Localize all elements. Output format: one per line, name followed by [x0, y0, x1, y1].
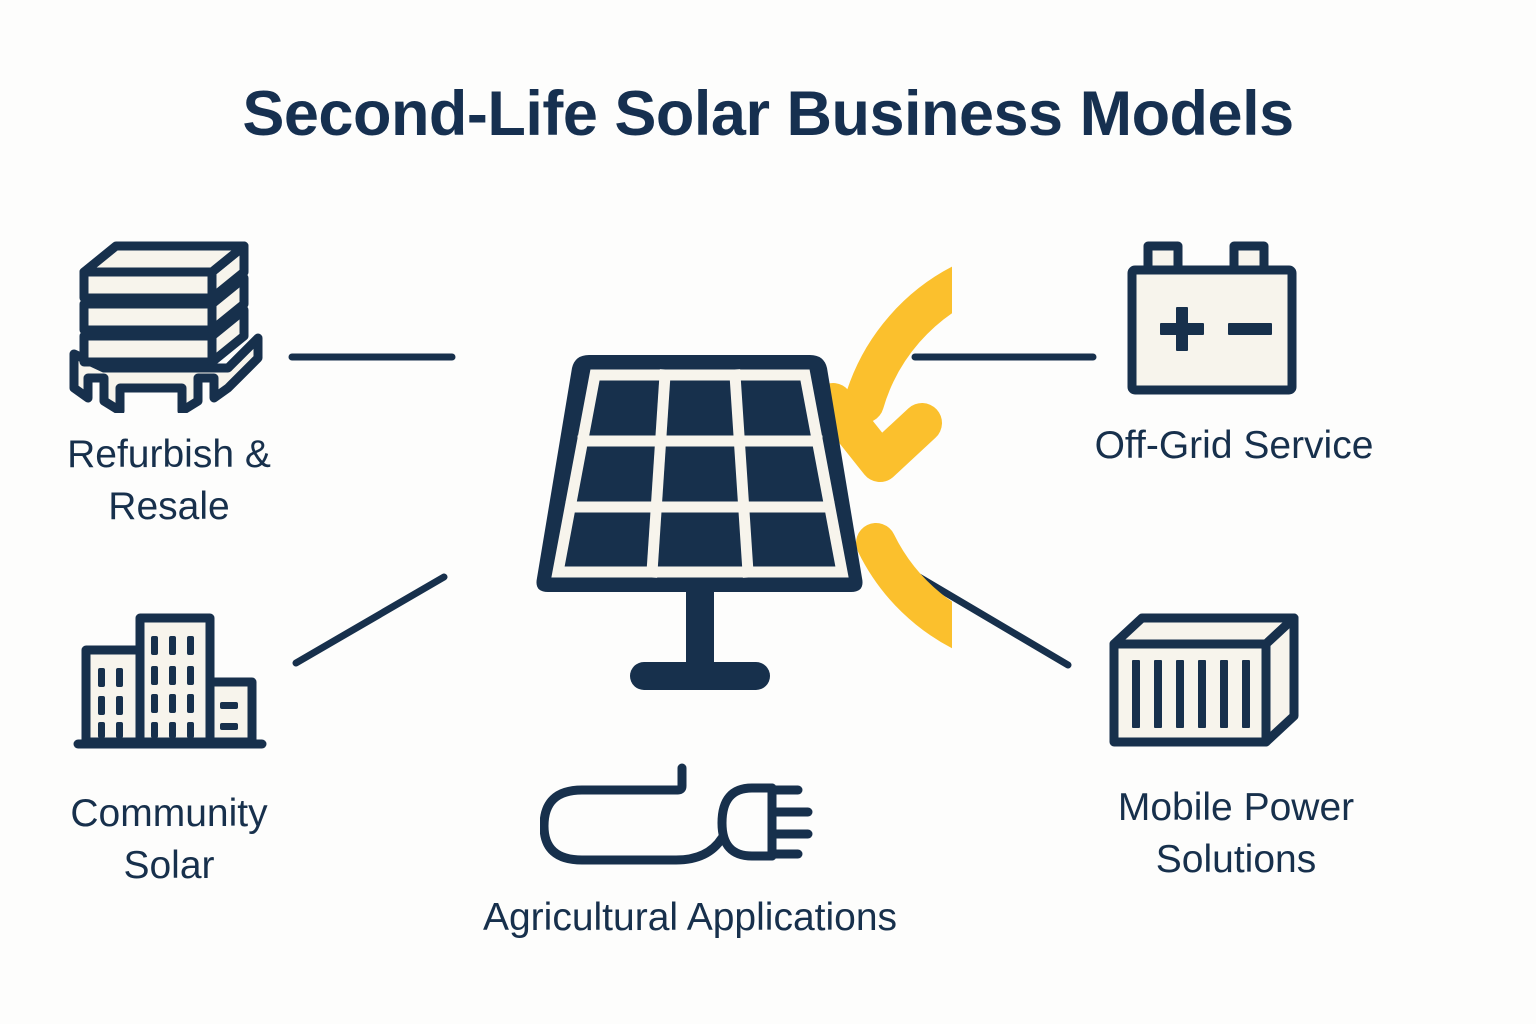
node-agricultural-applications[interactable]: Agricultural Applications [440, 760, 940, 944]
battery-icon [1124, 238, 1304, 398]
pallet-stack-icon [62, 238, 270, 413]
node-label-refurbish: Refurbish & Resale [34, 429, 304, 533]
node-label-agricultural: Agricultural Applications [440, 892, 940, 944]
buildings-icon [72, 592, 272, 772]
infographic-canvas: Second-Life Solar Business Models [0, 0, 1536, 1024]
node-label-community: Community Solar [34, 788, 304, 892]
node-refurbish-resale[interactable]: Refurbish & Resale [10, 238, 330, 533]
node-offgrid-service[interactable]: Off-Grid Service [1036, 238, 1496, 472]
page-title: Second-Life Solar Business Models [0, 78, 1536, 150]
center-graphic [452, 225, 952, 735]
node-label-offgrid: Off-Grid Service [1064, 420, 1404, 472]
circular-arrow-icon [833, 262, 952, 652]
node-community-solar[interactable]: Community Solar [10, 592, 330, 892]
battery-minus-symbol [1228, 323, 1272, 335]
node-label-mobile: Mobile Power Solutions [1086, 782, 1386, 886]
shipping-container-icon [1106, 612, 1306, 762]
power-plug-icon [540, 760, 840, 880]
solar-panel-icon [536, 355, 862, 690]
node-mobile-power[interactable]: Mobile Power Solutions [1036, 612, 1456, 886]
